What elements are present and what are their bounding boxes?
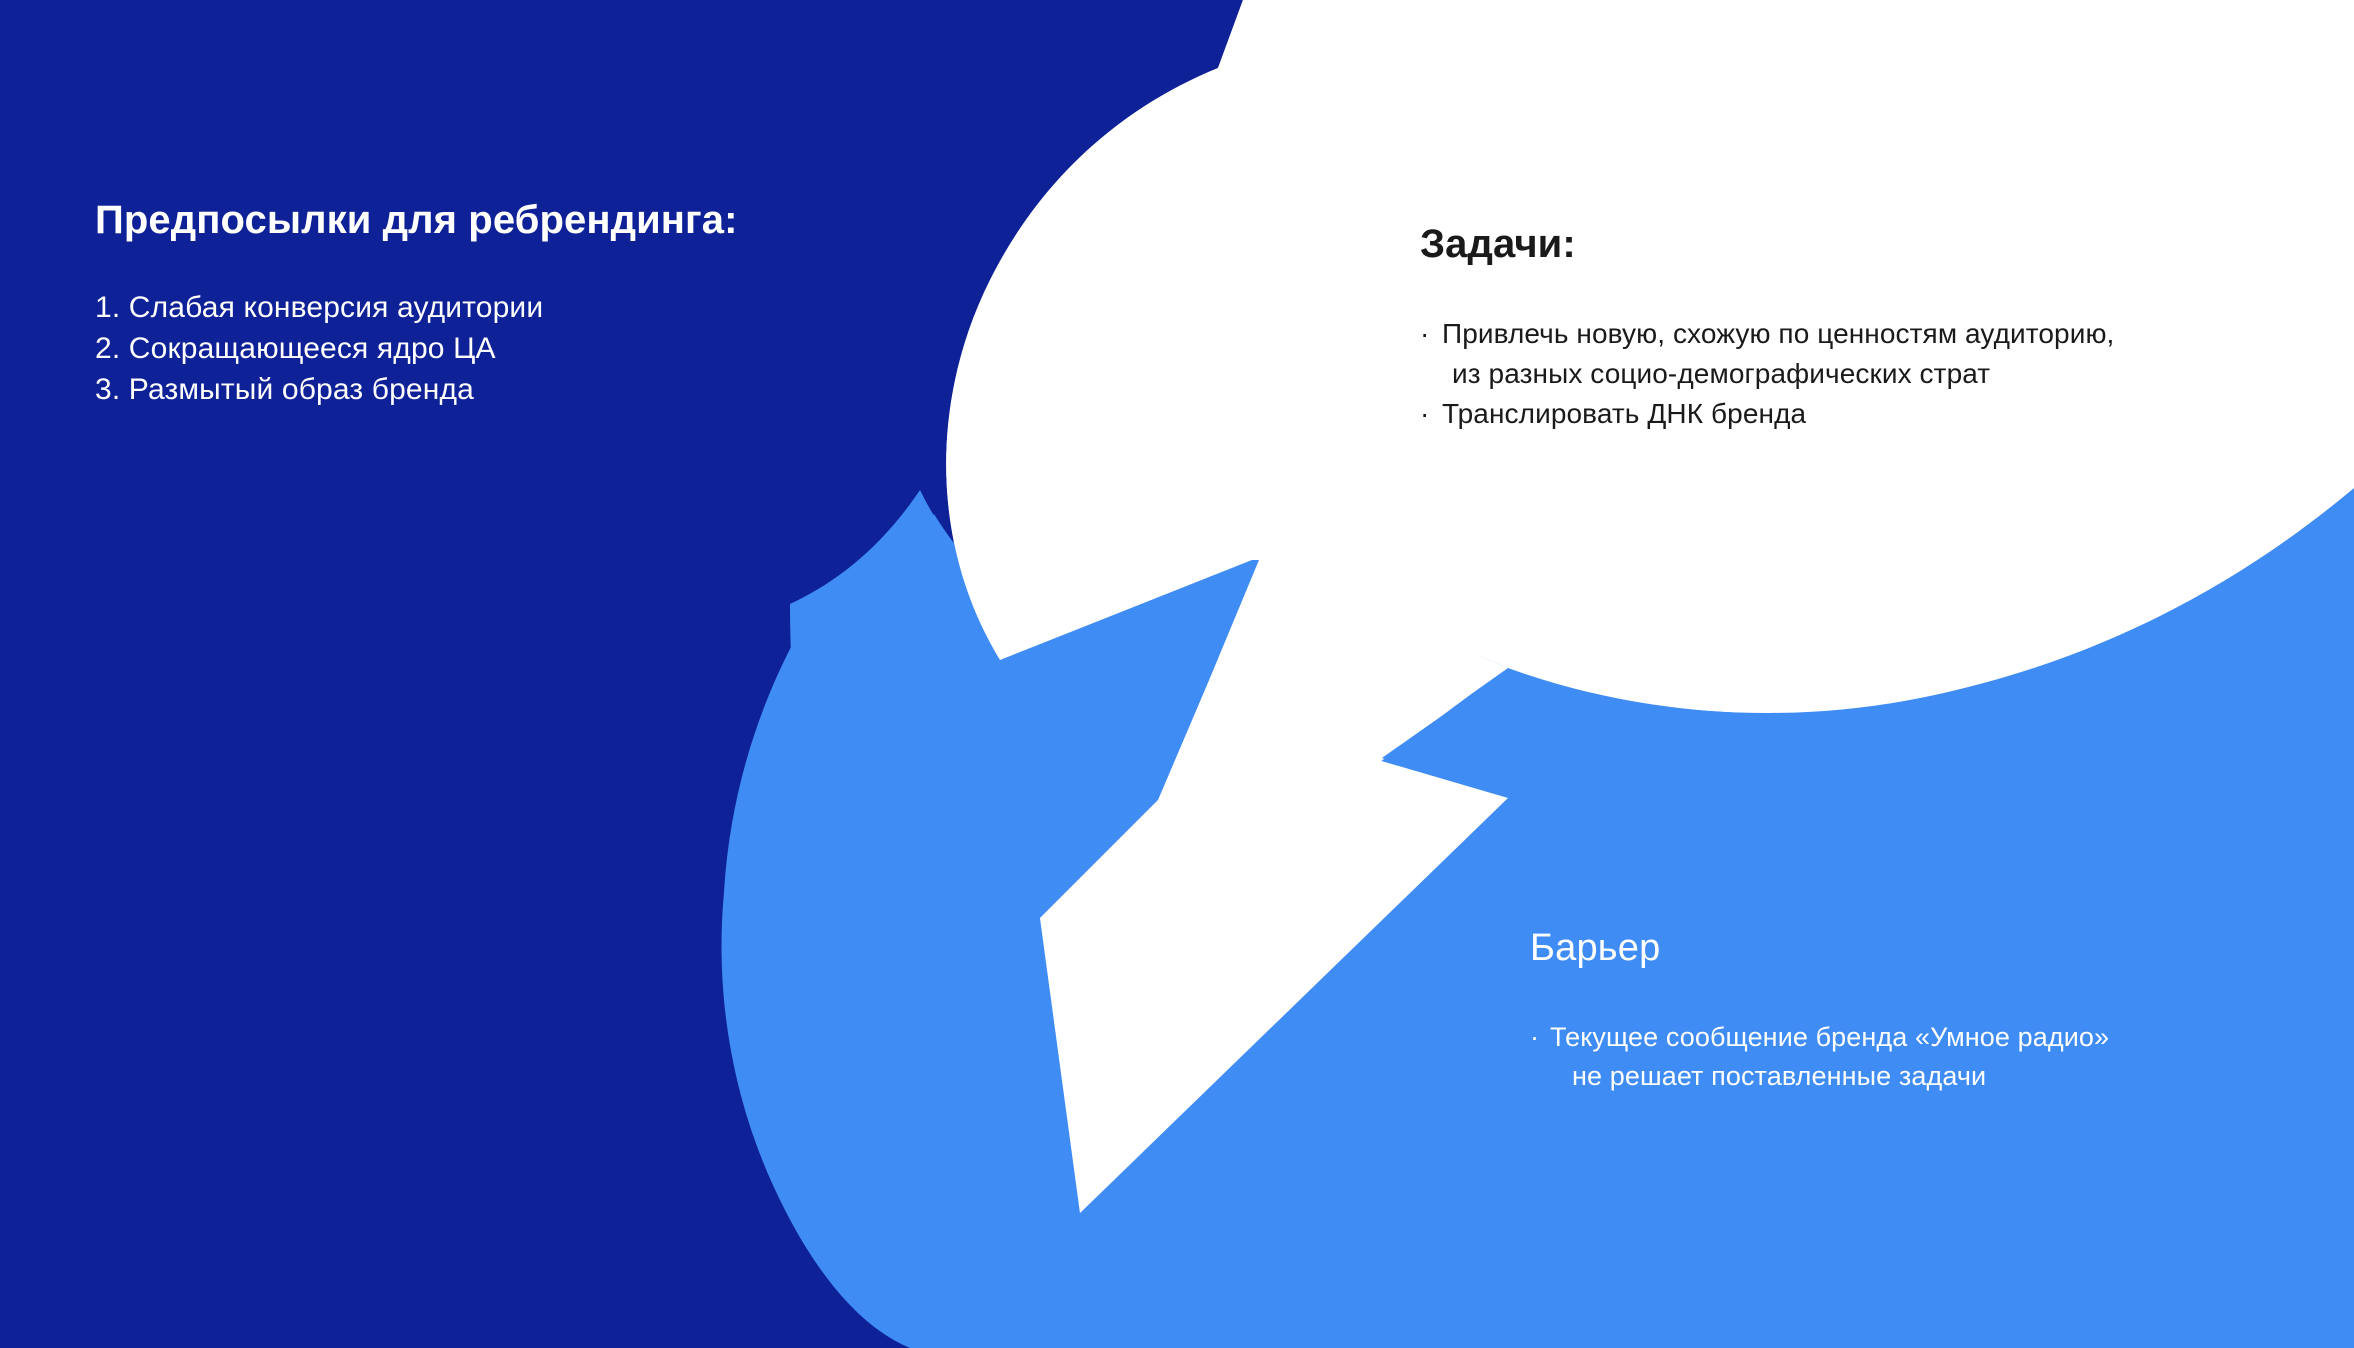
barrier-title: Барьер <box>1530 928 2310 970</box>
premises-item-2: 2. Сокращающееся ядро ЦА <box>95 329 995 370</box>
tasks-item-2: · Транслировать ДНК бренда <box>1420 394 2300 434</box>
tasks-item-1-line1: Привлечь новую, схожую по ценностям ауди… <box>1442 318 2114 349</box>
premises-title: Предпосылки для ребрендинга: <box>95 198 995 242</box>
barrier-item-1-line2: не решает поставленные задачи <box>1550 1057 2310 1096</box>
tasks-section: Задачи: · Привлечь новую, схожую по ценн… <box>1420 222 2300 433</box>
barrier-item-1-line1: Текущее сообщение бренда «Умное радио» <box>1550 1022 2109 1052</box>
tasks-item-1-line2: из разных социо-демографических страт <box>1442 354 2300 394</box>
bullet-icon: · <box>1420 314 1429 354</box>
presentation-slide: Предпосылки для ребрендинга: 1. Слабая к… <box>0 0 2354 1348</box>
tasks-item-1: · Привлечь новую, схожую по ценностям ау… <box>1420 314 2300 394</box>
tasks-item-2-line1: Транслировать ДНК бренда <box>1442 398 1806 429</box>
barrier-item-1: · Текущее сообщение бренда «Умное радио»… <box>1530 1018 2310 1096</box>
bullet-icon: · <box>1420 394 1429 434</box>
premises-item-3: 3. Размытый образ бренда <box>95 370 995 411</box>
barrier-section: Барьер · Текущее сообщение бренда «Умное… <box>1530 928 2310 1096</box>
premises-section: Предпосылки для ребрендинга: 1. Слабая к… <box>95 198 995 410</box>
bullet-icon: · <box>1530 1018 1539 1057</box>
premises-item-1: 1. Слабая конверсия аудитории <box>95 288 995 329</box>
tasks-title: Задачи: <box>1420 222 2300 266</box>
